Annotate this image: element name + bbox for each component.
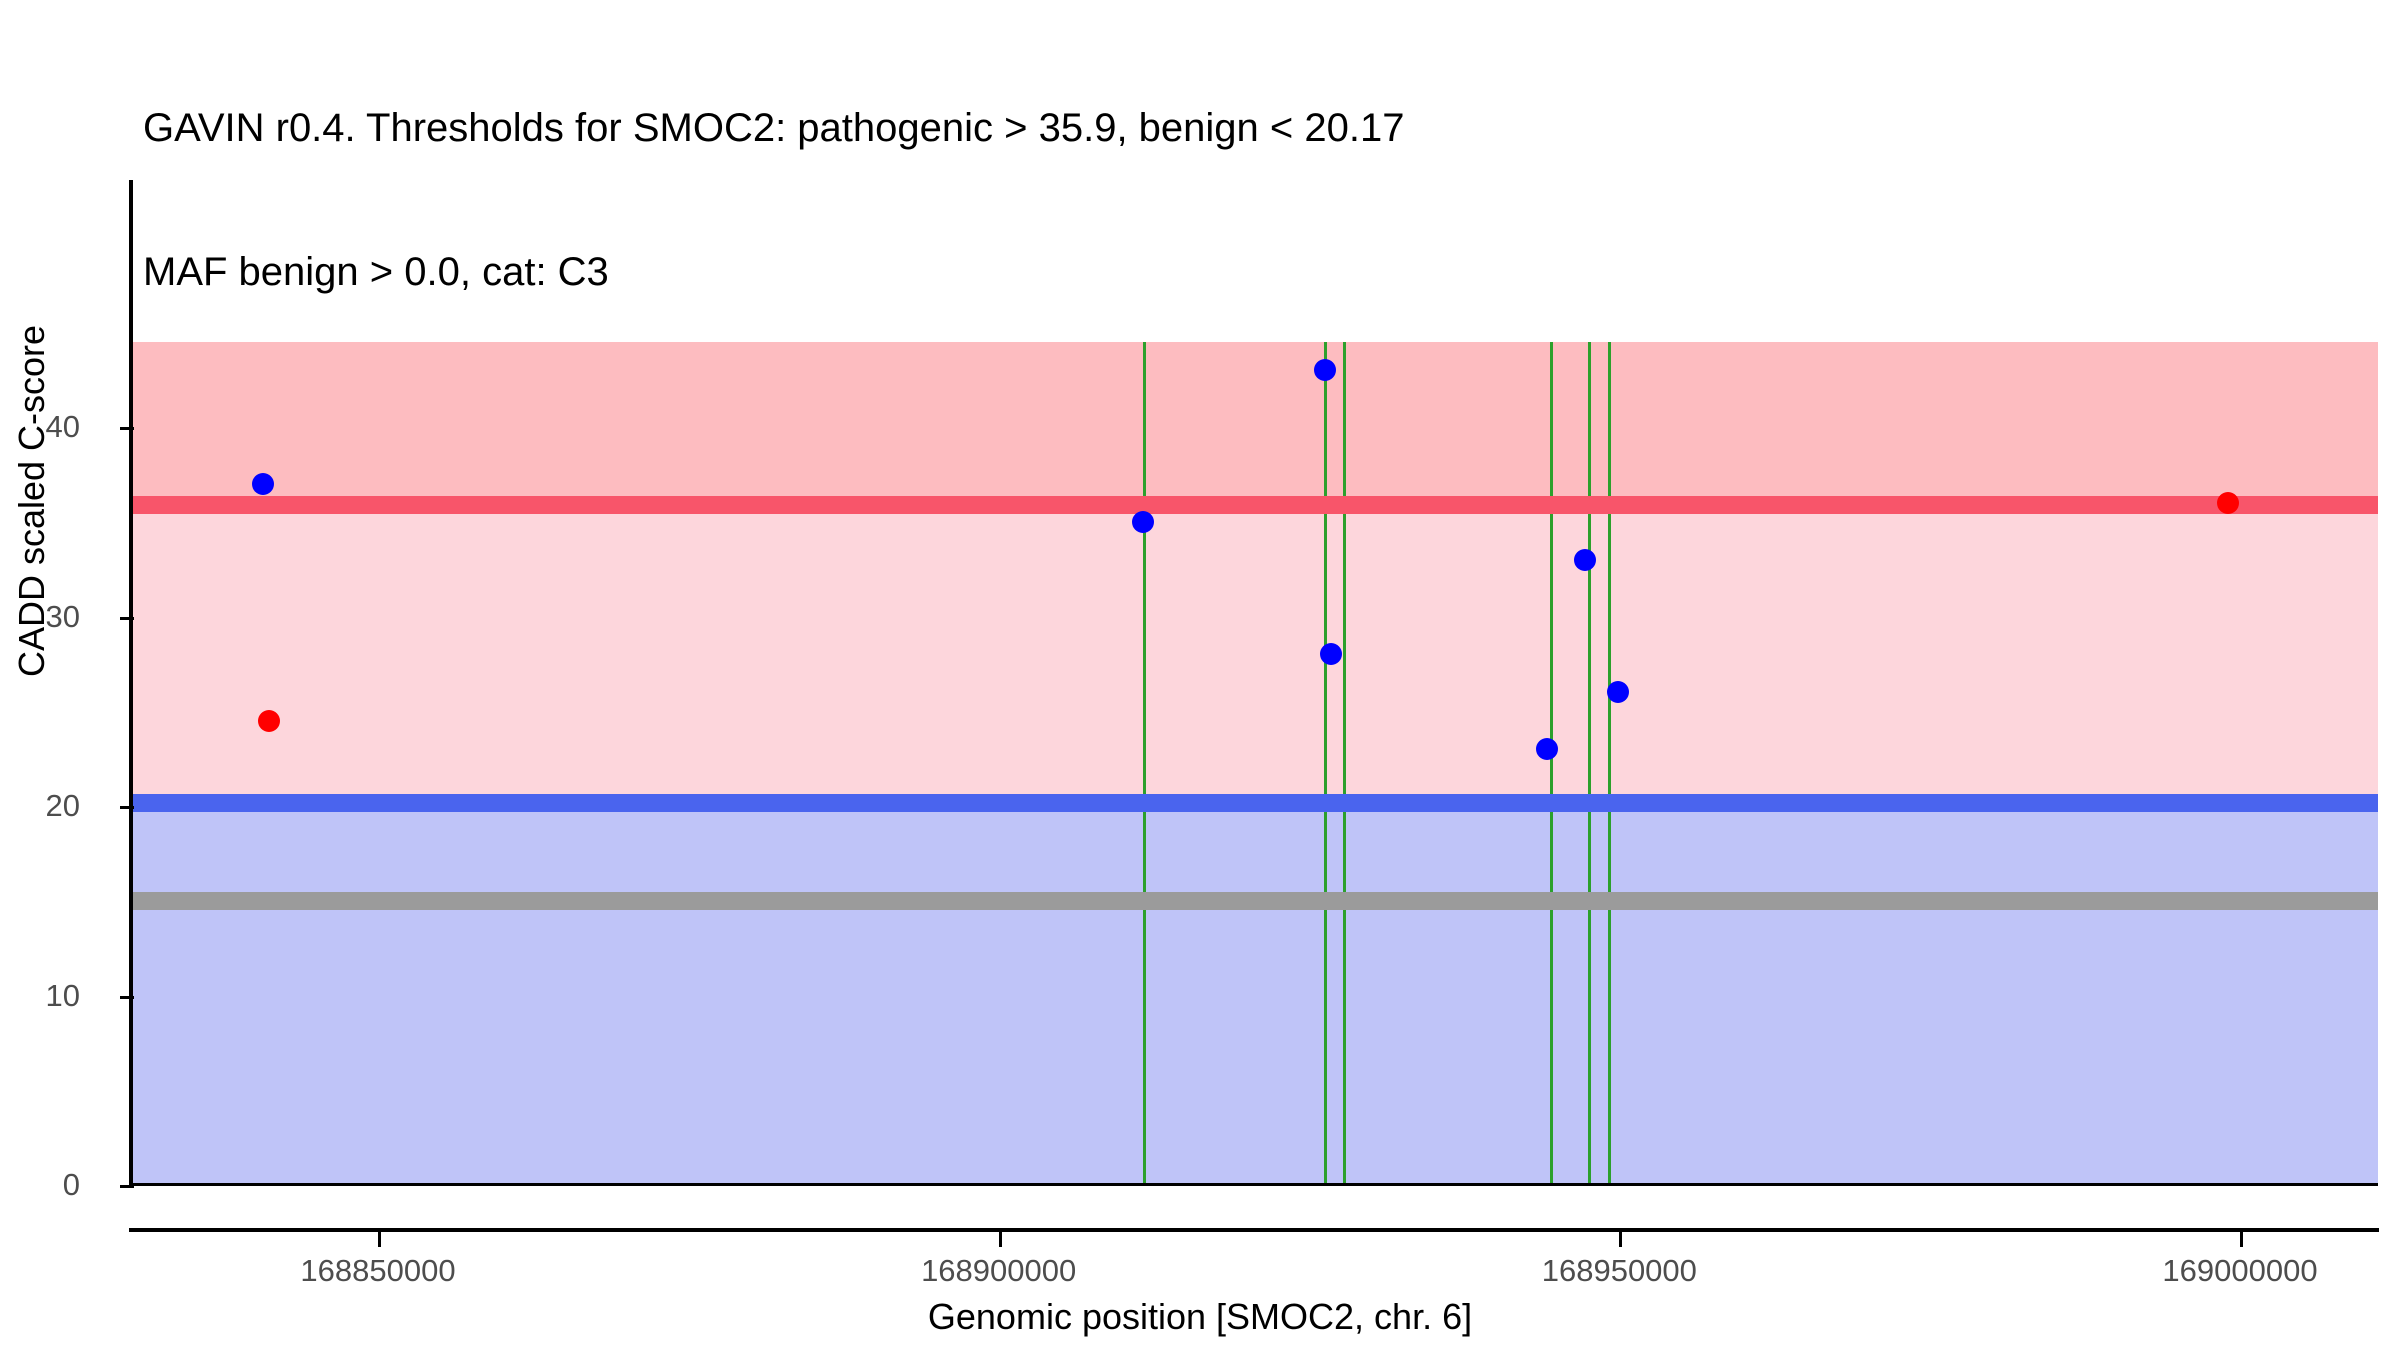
x-tick-label: 168900000 xyxy=(921,1253,1076,1289)
y-tick-label: 10 xyxy=(46,978,80,1014)
y-tick xyxy=(120,427,134,430)
intermediate-band xyxy=(130,505,2378,803)
data-point xyxy=(1574,549,1596,571)
data-point xyxy=(1607,681,1629,703)
threshold-line-benign xyxy=(130,794,2378,812)
x-tick xyxy=(999,1232,1002,1247)
x-axis-line xyxy=(129,1228,2379,1232)
y-axis-title: CADD scaled C-score xyxy=(11,71,53,931)
exon-line xyxy=(1550,342,1553,1185)
exon-line xyxy=(1324,342,1327,1185)
threshold-line-genome-wide-fallback xyxy=(130,892,2378,910)
y-tick xyxy=(120,996,134,999)
x-tick-label: 168850000 xyxy=(300,1253,455,1289)
data-point xyxy=(1320,643,1342,665)
benign-band xyxy=(130,803,2378,1185)
x-tick xyxy=(378,1232,381,1247)
data-point xyxy=(252,473,274,495)
data-point xyxy=(258,710,280,732)
y-tick xyxy=(120,806,134,809)
y-tick xyxy=(120,617,134,620)
exon-line xyxy=(1343,342,1346,1185)
exon-line xyxy=(1588,342,1591,1185)
y-tick-label: 0 xyxy=(63,1167,80,1203)
data-point xyxy=(1132,511,1154,533)
pathogenic-band xyxy=(130,342,2378,505)
x-axis-title: Genomic position [SMOC2, chr. 6] xyxy=(0,1296,2400,1338)
y-axis-line xyxy=(129,180,133,1188)
title-line-1: GAVIN r0.4. Thresholds for SMOC2: pathog… xyxy=(143,104,2343,152)
y-tick xyxy=(120,1185,134,1188)
baseline-zero xyxy=(130,1183,2378,1186)
x-tick xyxy=(2240,1232,2243,1247)
x-tick-label: 169000000 xyxy=(2162,1253,2317,1289)
data-point xyxy=(2217,492,2239,514)
plot-panel xyxy=(130,180,2378,1185)
threshold-line-pathogenic xyxy=(130,496,2378,514)
x-tick-label: 168950000 xyxy=(1542,1253,1697,1289)
data-point xyxy=(1314,359,1336,381)
data-point xyxy=(1536,738,1558,760)
exon-line xyxy=(1608,342,1611,1185)
x-tick xyxy=(1619,1232,1622,1247)
chart-root: GAVIN r0.4. Thresholds for SMOC2: pathog… xyxy=(0,0,2400,1350)
exon-line xyxy=(1143,342,1146,1185)
